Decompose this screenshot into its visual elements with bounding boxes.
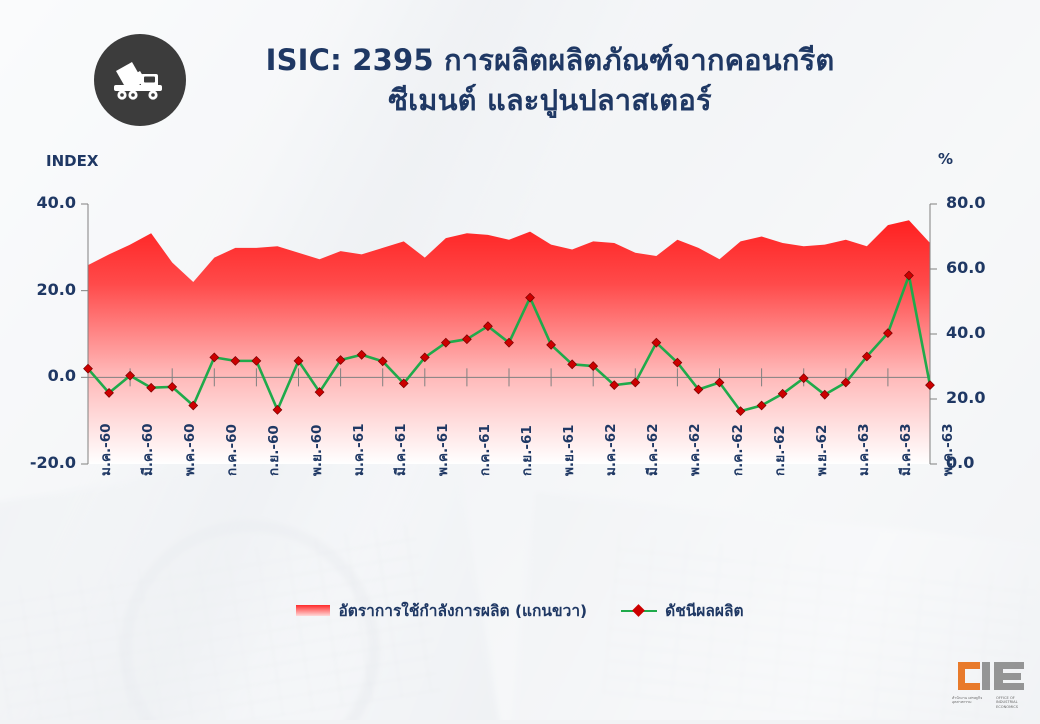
- x-axis-tick-label: พ.ย.-60: [305, 425, 327, 476]
- x-axis-tick-label: ม.ค.-62: [599, 423, 621, 476]
- x-axis-tick-label: พ.ค.-63: [936, 423, 958, 476]
- x-axis-tick-label: มี.ค.-61: [389, 423, 411, 476]
- x-axis-tick-label: ก.ย.-60: [262, 425, 284, 476]
- right-axis-tick-label: 20.0: [946, 388, 1016, 407]
- x-axis-tick-label: มี.ค.-62: [641, 423, 663, 476]
- x-axis-tick-label: ก.ย.-61: [515, 425, 537, 476]
- x-axis-tick-label: พ.ย.-61: [557, 425, 579, 476]
- legend-label-production-index: ดัชนีผลผลิต: [665, 598, 743, 623]
- chart-legend: อัตราการใช้กำลังการผลิต (แกนขวา) ดัชนีผล…: [0, 598, 1040, 623]
- legend-line-swatch-icon: [621, 605, 657, 617]
- x-axis-tick-label: มี.ค.-63: [894, 423, 916, 476]
- logo-caption-th: สำนักงาน เศรษฐกิจอุตสาหกรรม: [952, 696, 990, 709]
- left-axis-tick-label: 40.0: [6, 193, 76, 212]
- left-axis-tick-label: -20.0: [6, 453, 76, 472]
- x-axis-tick-label: ม.ค.-63: [852, 423, 874, 476]
- x-axis-tick-label: ม.ค.-61: [347, 423, 369, 476]
- left-axis-tick-label: 20.0: [6, 280, 76, 299]
- x-axis-tick-label: มี.ค.-60: [136, 423, 158, 476]
- x-axis-tick-label: พ.ค.-61: [431, 423, 453, 476]
- left-axis-tick-label: 0.0: [6, 366, 76, 385]
- legend-label-capacity: อัตราการใช้กำลังการผลิต (แกนขวา): [338, 598, 587, 623]
- legend-item-capacity[interactable]: อัตราการใช้กำลังการผลิต (แกนขวา): [296, 598, 587, 623]
- x-axis-tick-label: พ.ค.-60: [178, 423, 200, 476]
- oie-logo: สำนักงาน เศรษฐกิจอุตสาหกรรม OFFICE OF IN…: [952, 656, 1034, 714]
- right-axis-tick-label: 80.0: [946, 193, 1016, 212]
- x-axis-tick-label: พ.ย.-62: [810, 425, 832, 476]
- legend-item-production-index[interactable]: ดัชนีผลผลิต: [621, 598, 743, 623]
- right-axis-tick-label: 40.0: [946, 323, 1016, 342]
- logo-caption-en: OFFICE OF INDUSTRIAL ECONOMICS: [996, 696, 1034, 709]
- x-axis-tick-label: ก.ค.-60: [220, 424, 242, 476]
- x-axis-tick-label: ก.ค.-62: [726, 424, 748, 476]
- right-axis-tick-label: 60.0: [946, 258, 1016, 277]
- x-axis-tick-label: พ.ค.-62: [683, 423, 705, 476]
- x-axis-tick-label: ก.ย.-62: [768, 425, 790, 476]
- x-axis-tick-label: ก.ค.-61: [473, 424, 495, 476]
- x-axis-tick-label: ม.ค.-60: [94, 423, 116, 476]
- legend-area-swatch-icon: [296, 605, 330, 616]
